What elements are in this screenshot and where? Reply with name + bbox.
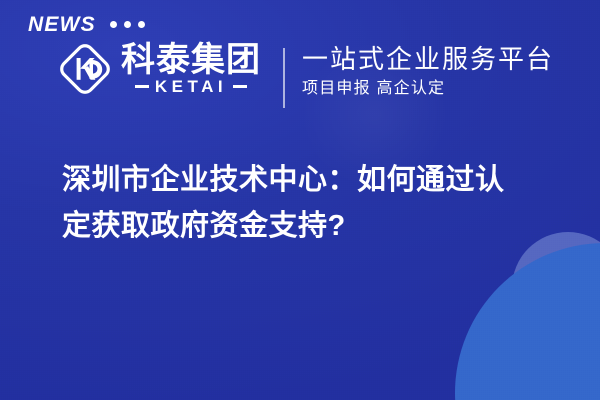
brand-logo: 科泰集团 KETAI bbox=[58, 42, 261, 96]
news-dots bbox=[110, 21, 145, 28]
headline: 深圳市企业技术中心：如何通过认 定获取政府资金支持? bbox=[62, 158, 562, 250]
news-label: NEWS bbox=[28, 14, 96, 35]
news-badge: NEWS bbox=[28, 14, 145, 35]
news-banner: NEWS 科泰集团 bbox=[0, 0, 600, 400]
tagline-block: 一站式企业服务平台 项目申报 高企认定 bbox=[302, 44, 554, 99]
dash-left bbox=[135, 85, 149, 88]
brand-latin-row: KETAI bbox=[121, 78, 261, 95]
ketai-diamond-monogram-icon bbox=[58, 42, 112, 96]
tagline-sub: 项目申报 高企认定 bbox=[302, 79, 554, 100]
vertical-divider bbox=[283, 48, 285, 108]
decorative-circle-bright bbox=[455, 243, 600, 400]
dash-right bbox=[233, 85, 247, 88]
news-dot bbox=[138, 21, 145, 28]
brand-name-latin: KETAI bbox=[155, 78, 227, 95]
headline-line-2: 定获取政府资金支持? bbox=[62, 204, 562, 250]
brand-name-cn: 科泰集团 bbox=[121, 43, 261, 78]
tagline-main: 一站式企业服务平台 bbox=[302, 44, 554, 75]
news-dot bbox=[110, 21, 117, 28]
headline-line-1: 深圳市企业技术中心：如何通过认 bbox=[62, 158, 562, 204]
brand-wordmark: 科泰集团 KETAI bbox=[121, 43, 261, 96]
news-dot bbox=[124, 21, 131, 28]
